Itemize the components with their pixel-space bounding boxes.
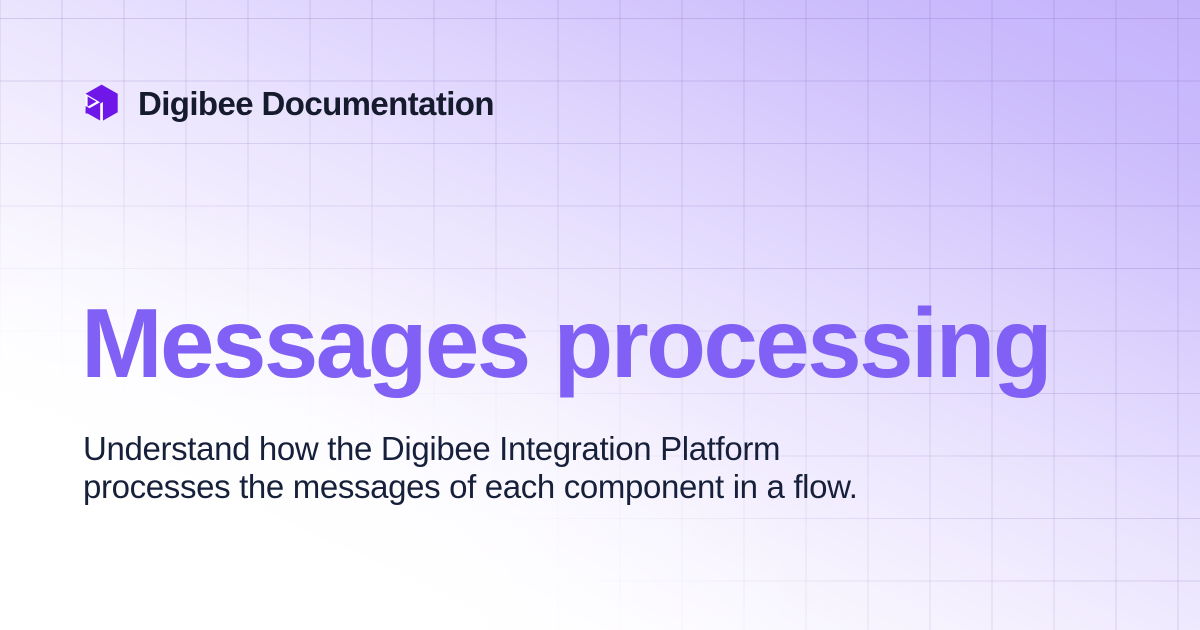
og-banner-card: Digibee Documentation Messages processin…: [0, 0, 1200, 630]
digibee-cube-logo-icon: [83, 84, 119, 122]
card-content: Digibee Documentation Messages processin…: [0, 0, 1200, 630]
brand-name-label: Digibee Documentation: [138, 87, 494, 120]
brand-lockup[interactable]: Digibee Documentation: [83, 84, 494, 122]
page-title: Messages processing: [81, 294, 1050, 392]
page-description: Understand how the Digibee Integration P…: [83, 430, 883, 506]
